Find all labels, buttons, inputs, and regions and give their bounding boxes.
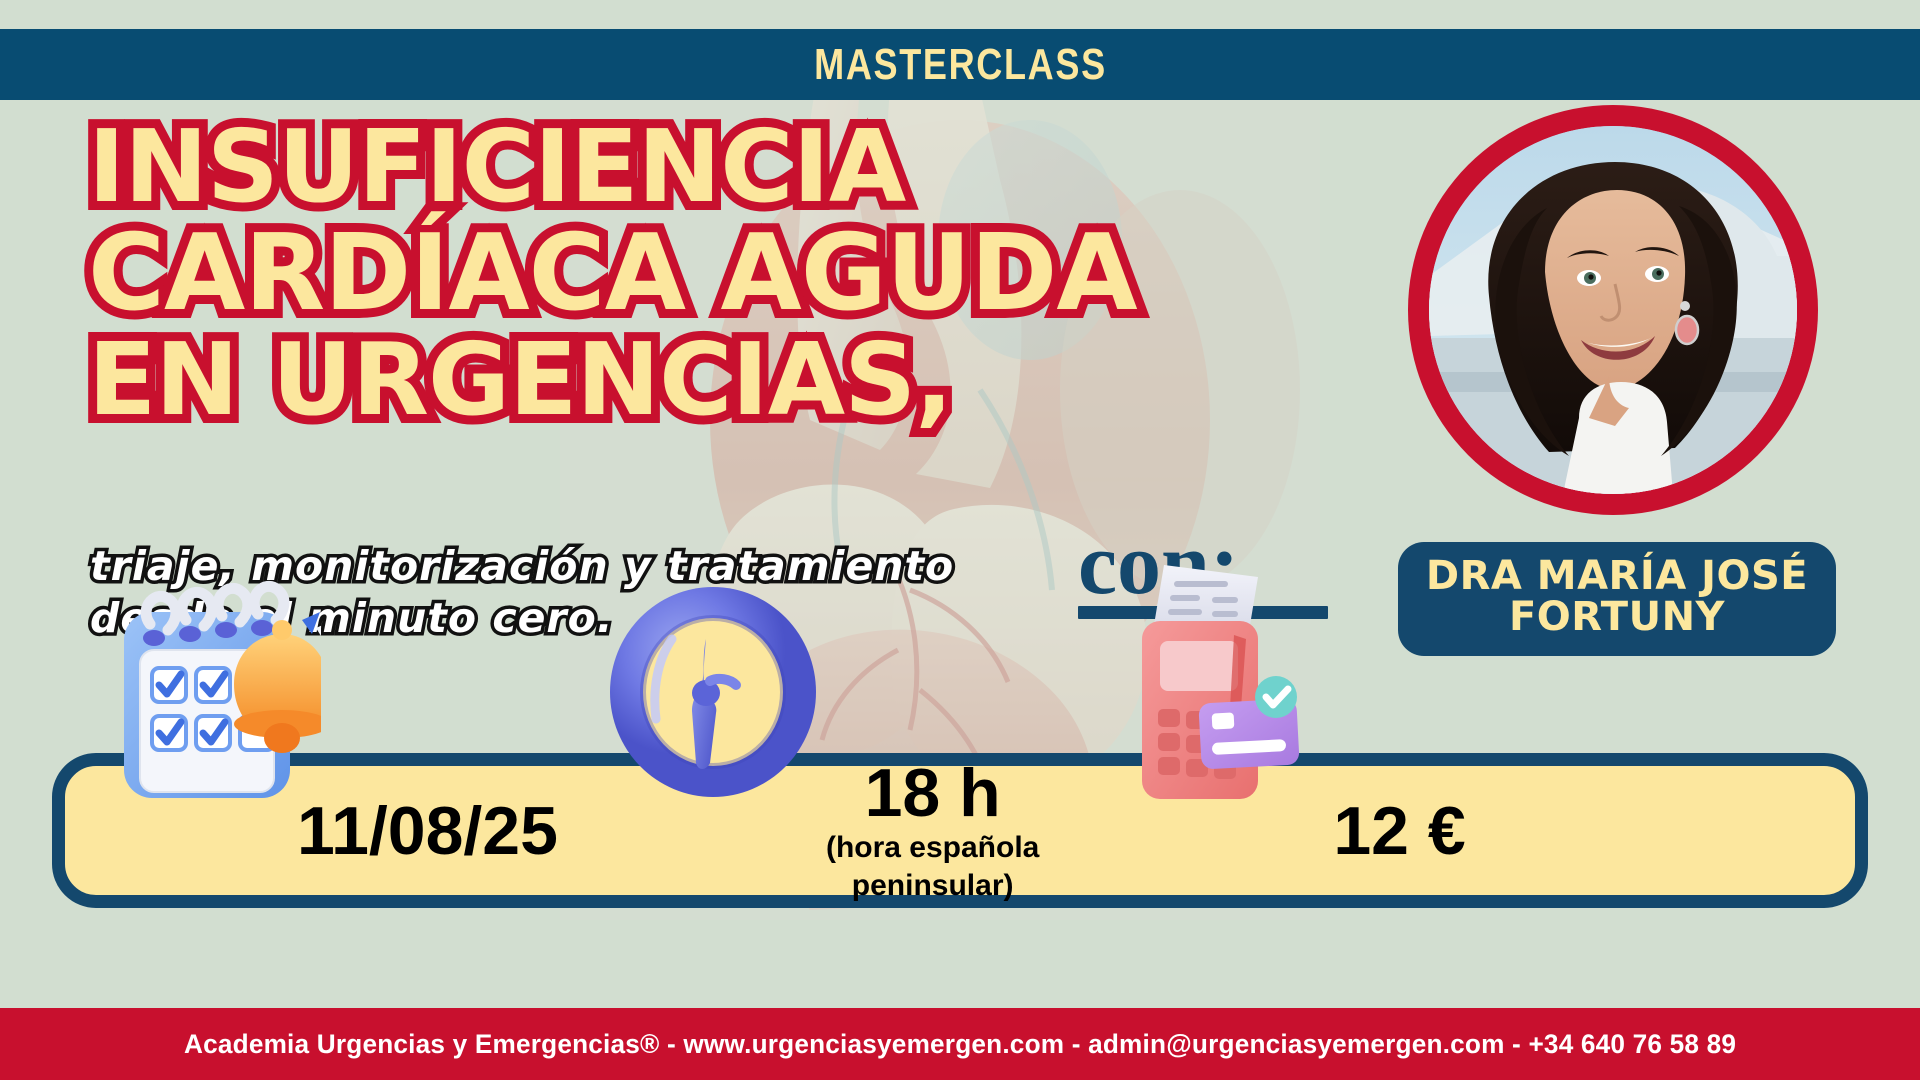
footer-contact-bar: Academia Urgencias y Emergencias® - www.…	[0, 1008, 1920, 1080]
with-label: con:	[1078, 525, 1328, 604]
with-label-block: con:	[1078, 525, 1328, 619]
speaker-photo-frame	[1408, 105, 1818, 515]
title-line-2: CARDÍACA AGUDA	[88, 222, 1108, 325]
speaker-name-line-2: FORTUNY	[1414, 597, 1820, 638]
subtitle-line-2: desde el minuto cero.	[90, 592, 990, 644]
event-time-note-line-2: peninsular)	[826, 869, 1039, 903]
avatar	[1429, 126, 1797, 494]
subtitle: triaje, monitorización y tratamiento des…	[90, 540, 990, 645]
event-date-cell: 11/08/25	[297, 766, 558, 895]
subtitle-line-1: triaje, monitorización y tratamiento	[90, 540, 990, 592]
speaker-name-badge: DRA MARÍA JOSÉ FORTUNY	[1398, 542, 1836, 656]
event-price-cell: 12 €	[1333, 766, 1465, 895]
page-title: INSUFICIENCIA CARDÍACA AGUDA EN URGENCIA…	[88, 118, 1108, 435]
masterclass-label: MASTERCLASS	[814, 40, 1107, 90]
masterclass-banner: MASTERCLASS	[0, 29, 1920, 100]
footer-contact-text: Academia Urgencias y Emergencias® - www.…	[184, 1029, 1736, 1060]
event-time-note-line-1: (hora española	[826, 831, 1039, 865]
title-line-1: INSUFICIENCIA	[88, 118, 1108, 216]
event-date: 11/08/25	[297, 797, 558, 865]
title-line-3: EN URGENCIAS,	[88, 331, 1108, 429]
event-price: 12 €	[1333, 797, 1465, 865]
event-time: 18 h	[826, 759, 1039, 827]
event-time-cell: 18 h (hora española peninsular)	[826, 766, 1039, 895]
speaker-name-line-1: DRA MARÍA JOSÉ	[1414, 556, 1820, 597]
event-info-bar: 11/08/25 18 h (hora española peninsular)…	[52, 753, 1868, 908]
